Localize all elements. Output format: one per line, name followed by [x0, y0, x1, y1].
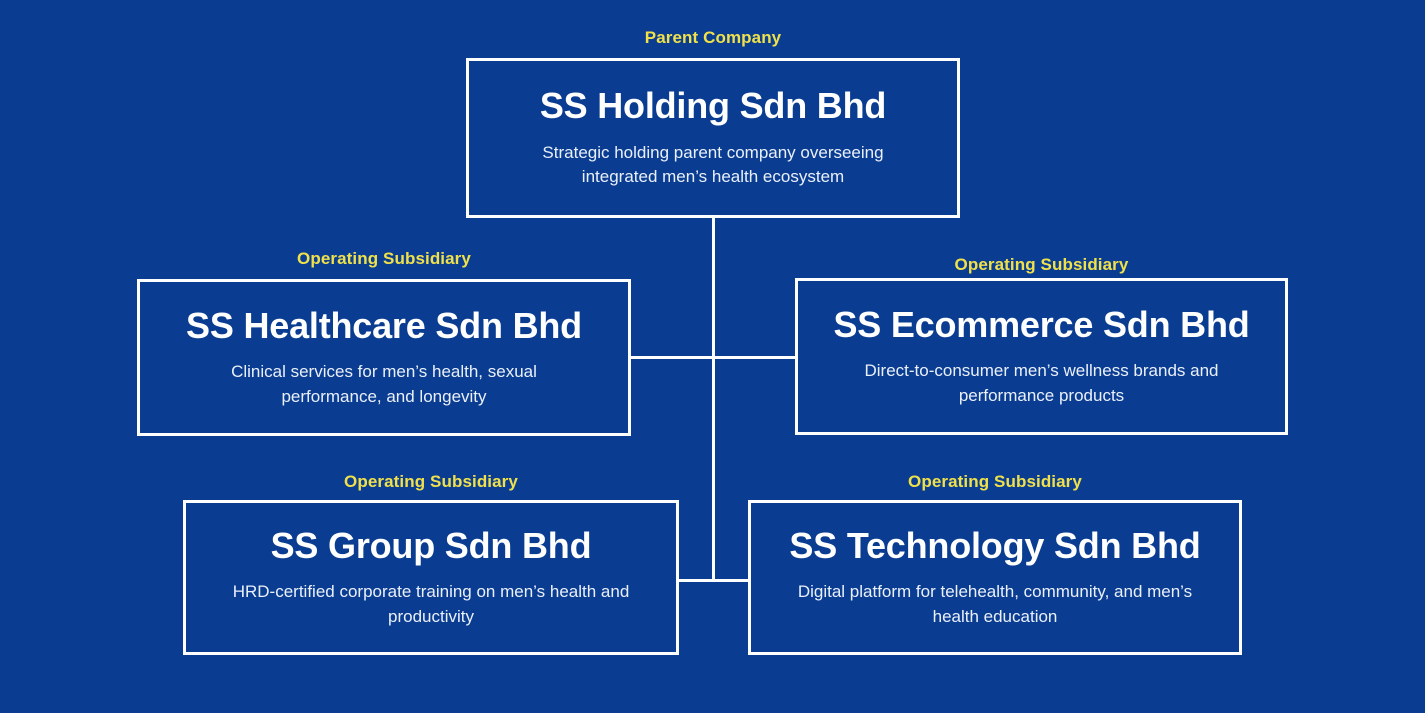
node-box-healthcare[interactable]: SS Healthcare Sdn Bhd Clinical services … [137, 279, 631, 436]
connector-parent-trunk [712, 216, 715, 359]
node-title-technology: SS Technology Sdn Bhd [789, 526, 1200, 566]
node-caption-ecommerce: Operating Subsidiary [795, 256, 1288, 273]
node-title-ecommerce: SS Ecommerce Sdn Bhd [833, 305, 1249, 345]
node-caption-group: Operating Subsidiary [183, 473, 679, 490]
node-description-healthcare: Clinical services for men’s health, sexu… [194, 360, 574, 409]
connector-lower-trunk [712, 356, 715, 581]
node-box-group[interactable]: SS Group Sdn Bhd HRD-certified corporate… [183, 500, 679, 655]
node-title-healthcare: SS Healthcare Sdn Bhd [186, 306, 582, 346]
node-description-ecommerce: Direct-to-consumer men’s wellness brands… [827, 359, 1257, 408]
node-caption-healthcare: Operating Subsidiary [137, 250, 631, 267]
node-title-group: SS Group Sdn Bhd [271, 526, 592, 566]
node-description-technology: Digital platform for telehealth, communi… [785, 580, 1205, 629]
node-caption-technology: Operating Subsidiary [748, 473, 1242, 490]
org-chart-canvas: Parent Company SS Holding Sdn Bhd Strate… [0, 0, 1425, 713]
node-box-technology[interactable]: SS Technology Sdn Bhd Digital platform f… [748, 500, 1242, 655]
node-caption-parent: Parent Company [466, 29, 960, 46]
node-description-group: HRD-certified corporate training on men’… [211, 580, 651, 629]
node-box-ecommerce[interactable]: SS Ecommerce Sdn Bhd Direct-to-consumer … [795, 278, 1288, 435]
node-description-parent: Strategic holding parent company oversee… [503, 141, 923, 190]
connector-bottom-horizontal [678, 579, 749, 582]
node-box-parent[interactable]: SS Holding Sdn Bhd Strategic holding par… [466, 58, 960, 218]
node-title-parent: SS Holding Sdn Bhd [540, 86, 886, 126]
